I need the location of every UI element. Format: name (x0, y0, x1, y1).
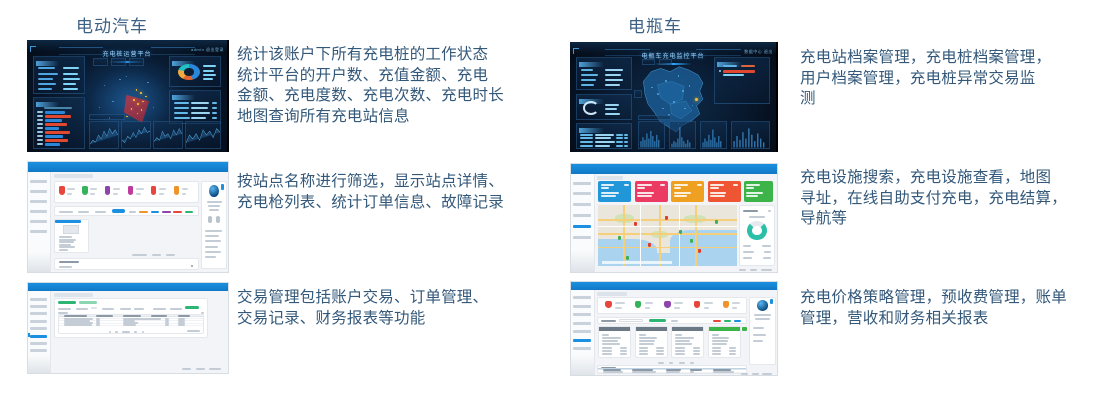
sidebar (571, 290, 595, 375)
map-pin[interactable] (665, 216, 668, 220)
header-wing-left (59, 47, 103, 55)
sidebar (28, 291, 51, 373)
map-pin[interactable] (618, 236, 621, 240)
area-chart-1 (90, 122, 118, 148)
column-title-ev: 电动汽车 (76, 12, 148, 37)
station-detail-card[interactable] (54, 219, 89, 253)
content-area (595, 174, 777, 272)
menu-icon[interactable] (30, 46, 36, 52)
panel-ranking-list (576, 123, 632, 148)
screenshot-eb-dashboard[interactable]: 电瓶车充电监控平台 数据中心 退出 (570, 42, 778, 152)
panel-realtime-alarm (714, 57, 770, 103)
tab-order-manage[interactable] (79, 301, 97, 304)
keyword-input[interactable] (619, 319, 643, 322)
panel-charge-stats (169, 56, 221, 87)
notification-badge[interactable] (770, 299, 773, 304)
search-button[interactable] (112, 209, 125, 213)
panel-ranking-heading (579, 128, 604, 133)
sidebar-watermark (28, 355, 50, 373)
device-thumbnail (63, 225, 78, 234)
panel-hourly-2 (669, 121, 696, 149)
tile-offline[interactable] (744, 181, 773, 203)
dashboard-canvas: 电瓶车充电监控平台 数据中心 退出 (570, 42, 776, 152)
panel-hourly-label (638, 115, 671, 121)
card-header-active (709, 327, 740, 331)
description-eb-dashboard: 充电站档案管理，充电桩档案管理， 用户档案管理，充电桩异常交易监 测 (800, 48, 1105, 110)
stat-fault[interactable] (690, 298, 717, 313)
app-header (28, 162, 228, 172)
panel-hourly-3 (700, 121, 727, 149)
breadcrumb (597, 292, 626, 296)
screenshot-ev-dashboard[interactable]: 充电桩运营平台 admin 退出登录 (27, 40, 229, 152)
sidebar-watermark (28, 252, 50, 272)
map-zoom-control[interactable] (634, 90, 642, 98)
panel-station-overview (576, 57, 632, 90)
map-attribution (602, 261, 671, 265)
bill-table (597, 365, 746, 374)
stat-total[interactable] (56, 182, 77, 202)
map-legend-tab-1[interactable] (642, 59, 655, 66)
breadcrumb (597, 176, 623, 180)
app-header (28, 283, 228, 291)
panel-device-state (576, 94, 632, 120)
header-user[interactable]: admin 退出登录 (191, 47, 224, 53)
panel-trend-1 (89, 121, 119, 149)
table-row[interactable] (598, 371, 745, 373)
card-header (672, 327, 703, 331)
pagination[interactable] (108, 330, 154, 332)
filter-bar (54, 206, 199, 216)
menu-icon[interactable] (573, 48, 579, 54)
right-rail (201, 181, 227, 269)
footer-panel (54, 258, 199, 270)
panel-trend-3 (153, 121, 183, 149)
stat-charging[interactable] (102, 182, 123, 202)
description-ev-dashboard: 统计该账户下所有充电桩的工作状态 统计平台的开户数、充值金额、充电 金额、充电度… (237, 45, 557, 127)
description-ev-station: 按站点名称进行筛选，显示站点详情、 充电枪列表、统计订单信息、故障记录 (237, 172, 557, 213)
notification-badge[interactable] (221, 184, 224, 189)
panel-alarm-heading (172, 95, 195, 100)
action-icon-1[interactable] (208, 216, 212, 223)
ring-chart (583, 101, 599, 115)
content-area (51, 291, 228, 373)
map-filter-tab-1[interactable] (93, 58, 108, 66)
map-pin[interactable] (715, 220, 718, 224)
charge-summary-panel (739, 205, 775, 266)
stats-strip (54, 181, 199, 203)
price-card-active[interactable] (708, 326, 741, 358)
screenshot-ev-trade[interactable]: 充电桩运营平台 (27, 282, 229, 374)
map-pin[interactable] (679, 230, 682, 234)
screenshot-eb-map[interactable]: 电瓶车充电运营平台 管理员 退出 帮助 (570, 163, 778, 273)
panel-hourly-1 (638, 121, 665, 149)
tile-fault[interactable] (708, 181, 741, 203)
panel-alarm-list (169, 90, 221, 124)
stat-offline[interactable] (719, 298, 744, 313)
stat-total[interactable] (601, 298, 628, 313)
trade-table (58, 314, 204, 335)
map-filter-tab-2[interactable] (111, 58, 126, 66)
table-row[interactable] (59, 324, 203, 326)
panel-overview-heading (36, 61, 59, 66)
column-title-ebike: 电瓶车 (628, 12, 682, 37)
avatar[interactable] (757, 300, 768, 311)
query-button[interactable] (185, 306, 199, 309)
stats-strip (597, 297, 746, 314)
card-header (599, 327, 630, 331)
description-eb-price: 充电价格策略管理，预收费管理，账单 管理，营收和财务相关报表 (800, 288, 1105, 329)
screenshot-ev-station[interactable]: 充电桩运营平台 管理员 退出 (27, 161, 229, 273)
panel-trend-2 (121, 121, 151, 149)
tile-in-use[interactable] (635, 181, 668, 203)
panel-hourly-4 (731, 121, 770, 149)
content-area (51, 172, 228, 272)
price-card[interactable] (671, 326, 704, 358)
map-pin[interactable] (690, 239, 693, 243)
area-chart-4 (186, 122, 220, 148)
panel-ranking (33, 97, 85, 149)
panel-station-heading (579, 62, 604, 67)
avatar[interactable] (209, 185, 218, 197)
trade-panel (54, 298, 208, 337)
tab-account-trade[interactable] (58, 301, 76, 304)
app-header (571, 164, 777, 174)
sidebar-watermark (571, 355, 594, 375)
area-chart-2 (122, 122, 150, 148)
breadcrumb (54, 174, 93, 178)
app-header (571, 282, 777, 290)
card-title-bar (55, 220, 82, 223)
search-button[interactable] (649, 319, 667, 322)
header-wing-right (151, 47, 195, 55)
card-header (636, 327, 667, 331)
stat-online[interactable] (631, 298, 658, 313)
donut-chart (747, 221, 766, 240)
dashboard-title: 充电桩运营平台 (102, 49, 151, 58)
area-chart-3 (154, 122, 182, 148)
content-area (595, 290, 777, 375)
map-view[interactable] (598, 205, 737, 266)
panel-trend-label (89, 114, 125, 120)
panel-trend-4 (185, 121, 221, 149)
right-rail (749, 297, 775, 365)
stat-idle[interactable] (125, 182, 146, 202)
header-user[interactable]: 数据中心 退出 (744, 49, 773, 55)
stat-online[interactable] (79, 182, 100, 202)
breadcrumb (54, 293, 93, 297)
sidebar-watermark (571, 250, 594, 272)
stat-fault[interactable] (148, 182, 169, 202)
panel-overview (33, 56, 85, 94)
sidebar (571, 174, 595, 272)
map-filter-tab-3[interactable] (129, 58, 144, 66)
select-box[interactable] (91, 307, 97, 309)
price-toolbar (597, 317, 746, 325)
map-legend-tab-2[interactable] (659, 59, 672, 66)
edit-icon[interactable] (742, 327, 747, 331)
map-pin[interactable] (648, 243, 651, 247)
stat-charging[interactable] (660, 298, 687, 313)
map-pin[interactable] (698, 249, 701, 253)
description-ev-trade: 交易管理包括账户交易、订单管理、 交易记录、财务报表等功能 (237, 288, 557, 329)
sidebar-active-indicator (28, 333, 30, 337)
tile-total-stations[interactable] (598, 181, 631, 203)
price-card[interactable] (598, 326, 631, 358)
dashboard-canvas: 充电桩运营平台 admin 退出登录 (27, 40, 227, 152)
donut-chart (178, 64, 200, 80)
stat-offline[interactable] (171, 182, 192, 202)
slide-root: 电动汽车 充电桩运营平台 admin 退出登录 (0, 0, 1118, 406)
sidebar (28, 172, 51, 272)
price-card[interactable] (635, 326, 668, 358)
tile-idle[interactable] (671, 181, 704, 203)
screenshot-eb-price[interactable]: 电瓶车充电运营平台 (570, 281, 778, 376)
description-eb-map: 充电设施搜索，充电设施查看，地图 寻址，在线自助支付充电，充电结算， 导航等 (800, 168, 1105, 230)
action-icon-2[interactable] (216, 216, 220, 223)
